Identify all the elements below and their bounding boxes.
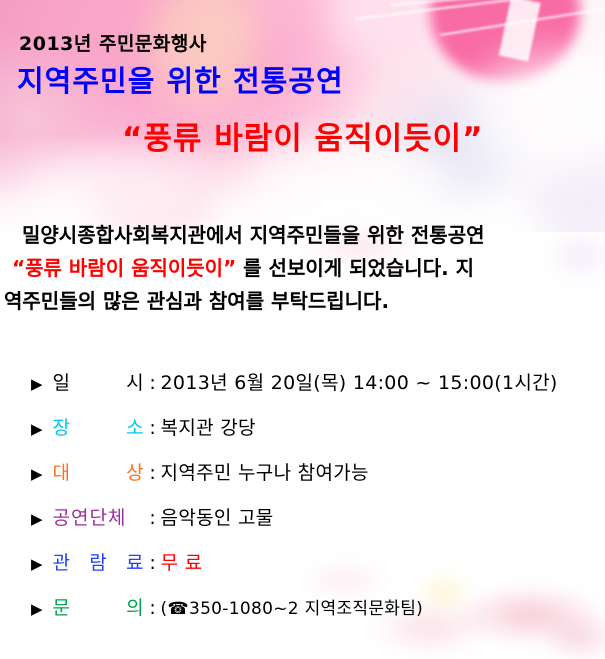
detail-row-performers: ▶ 공연단체 : 음악동인 고물 <box>0 503 605 548</box>
intro-quote-title: “풍류 바람이 움직이듯이” <box>12 256 236 280</box>
detail-value-contact: (☎350-1080~2 지역조직문화팀) <box>161 594 424 619</box>
detail-label-datetime: 일 시 <box>53 368 145 395</box>
detail-value-audience: 지역주민 누구나 참여가능 <box>161 458 369 485</box>
intro-line-1: 밀양시종합사회복지관에서 지역주민들을 위한 전통공연 <box>0 219 605 252</box>
detail-label-place: 장 소 <box>53 413 145 440</box>
triangle-bullet-icon: ▶ <box>31 422 43 437</box>
intro-line-3: 역주민들의 많은 관심과 참여를 부탁드립니다. <box>0 285 605 318</box>
detail-label-admission: 관 람 료 <box>53 548 145 575</box>
detail-colon: : <box>145 597 161 619</box>
detail-value-datetime: 2013년 6월 20일(목) 14:00 ~ 15:00(1시간) <box>161 368 558 395</box>
detail-colon: : <box>145 417 161 439</box>
event-poster: 2013년 주민문화행사 지역주민을 위한 전통공연 “풍류 바람이 움직이듯이… <box>0 0 605 659</box>
detail-label-audience: 대 상 <box>53 458 145 485</box>
detail-row-audience: ▶ 대 상 : 지역주민 누구나 참여가능 <box>0 458 605 503</box>
event-details-list: ▶ 일 시 : 2013년 6월 20일(목) 14:00 ~ 15:00(1시… <box>0 368 605 638</box>
detail-value-performers: 음악동인 고물 <box>161 503 274 530</box>
detail-row-datetime: ▶ 일 시 : 2013년 6월 20일(목) 14:00 ~ 15:00(1시… <box>0 368 605 413</box>
poster-headline: 지역주민을 위한 전통공연 <box>17 58 344 100</box>
poster-quote-title: “풍류 바람이 움직이듯이” <box>122 113 484 158</box>
detail-row-admission: ▶ 관 람 료 : 무 료 <box>0 548 605 593</box>
detail-label-performers: 공연단체 <box>53 503 145 530</box>
triangle-bullet-icon: ▶ <box>31 557 43 572</box>
detail-value-place: 복지관 강당 <box>161 413 256 440</box>
detail-colon: : <box>145 372 161 394</box>
poster-kicker: 2013년 주민문화행사 <box>19 29 207 56</box>
detail-label-contact: 문 의 <box>53 593 145 620</box>
triangle-bullet-icon: ▶ <box>31 467 43 482</box>
detail-row-contact: ▶ 문 의 : (☎350-1080~2 지역조직문화팀) <box>0 593 605 638</box>
intro-line-2: “풍류 바람이 움직이듯이” 를 선보이게 되었습니다. 지 <box>0 252 605 285</box>
detail-row-place: ▶ 장 소 : 복지관 강당 <box>0 413 605 458</box>
triangle-bullet-icon: ▶ <box>31 377 43 392</box>
intro-paragraph: 밀양시종합사회복지관에서 지역주민들을 위한 전통공연 “풍류 바람이 움직이듯… <box>0 219 605 318</box>
detail-colon: : <box>145 552 161 574</box>
detail-colon: : <box>145 462 161 484</box>
detail-value-admission: 무 료 <box>161 548 203 575</box>
triangle-bullet-icon: ▶ <box>31 602 43 617</box>
intro-line-2-rest: 를 선보이게 되었습니다. 지 <box>236 256 474 280</box>
triangle-bullet-icon: ▶ <box>31 512 43 527</box>
detail-colon: : <box>145 507 161 529</box>
